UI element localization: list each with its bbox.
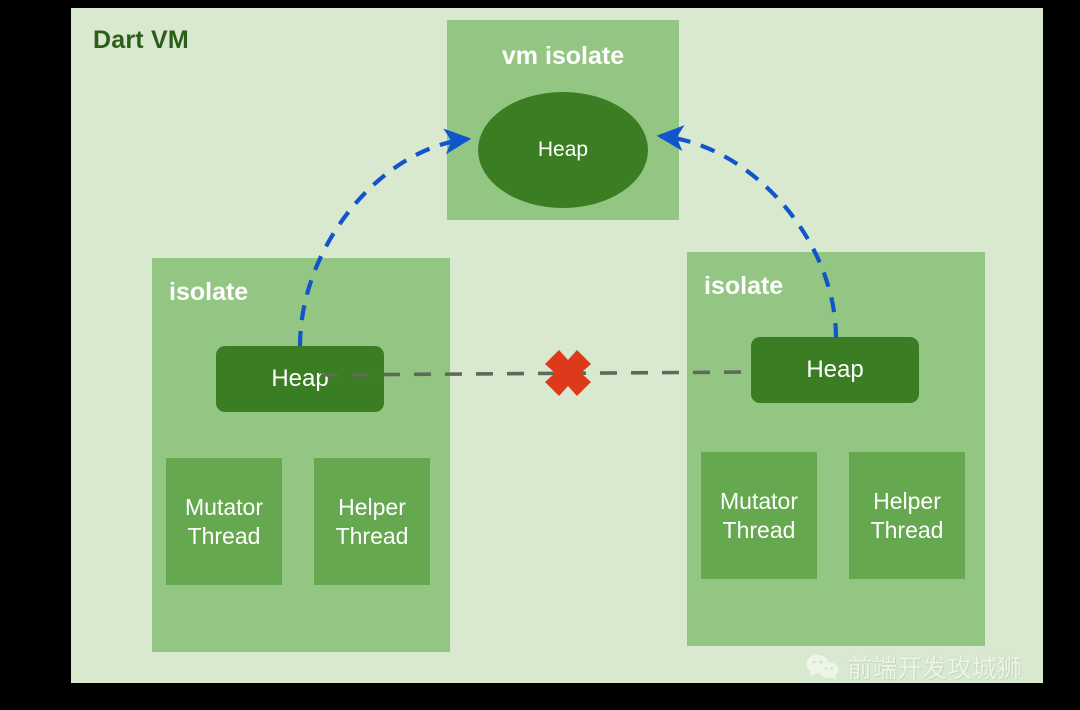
watermark: 前端开发攻城狮 [806, 649, 1022, 685]
isolate-right-helper-thread: Helper Thread [849, 452, 965, 579]
thread-label-line2: Thread [188, 523, 261, 549]
isolate-left-heap-label: Heap [271, 365, 328, 393]
isolate-left-label: isolate [169, 278, 248, 307]
thread-label-line1: Mutator [185, 494, 263, 520]
isolate-right-heap: Heap [751, 337, 919, 403]
thread-label-line1: Helper [338, 494, 406, 520]
thread-label-line1: Mutator [720, 488, 798, 514]
isolate-box-left: isolate Heap Mutator Thread Helper Threa… [152, 258, 450, 652]
thread-label-line2: Thread [336, 523, 409, 549]
vm-isolate-box: vm isolate Heap [447, 20, 679, 220]
vm-isolate-heap: Heap [478, 92, 648, 208]
isolate-right-label: isolate [704, 272, 783, 301]
isolate-left-mutator-thread: Mutator Thread [166, 458, 282, 585]
isolate-left-helper-thread-label: Helper Thread [336, 493, 409, 551]
wechat-icon [806, 654, 840, 681]
dart-vm-canvas: Dart VM vm isolate Heap isolate Heap Mut… [71, 8, 1043, 683]
watermark-text: 前端开发攻城狮 [847, 649, 1022, 685]
isolate-right-mutator-thread: Mutator Thread [701, 452, 817, 579]
isolate-right-heap-label: Heap [806, 356, 863, 384]
vm-isolate-heap-label: Heap [538, 138, 588, 162]
thread-label-line2: Thread [871, 517, 944, 543]
blocked-x-icon [545, 350, 591, 396]
isolate-right-helper-thread-label: Helper Thread [871, 487, 944, 545]
thread-label-line2: Thread [723, 517, 796, 543]
isolate-left-mutator-thread-label: Mutator Thread [185, 493, 263, 551]
vm-isolate-label: vm isolate [447, 42, 679, 71]
page-title: Dart VM [93, 26, 189, 55]
thread-label-line1: Helper [873, 488, 941, 514]
isolate-left-helper-thread: Helper Thread [314, 458, 430, 585]
screenshot-stage: Dart VM vm isolate Heap isolate Heap Mut… [0, 0, 1080, 710]
isolate-left-heap: Heap [216, 346, 384, 412]
isolate-box-right: isolate Heap Mutator Thread Helper Threa… [687, 252, 985, 646]
isolate-right-mutator-thread-label: Mutator Thread [720, 487, 798, 545]
